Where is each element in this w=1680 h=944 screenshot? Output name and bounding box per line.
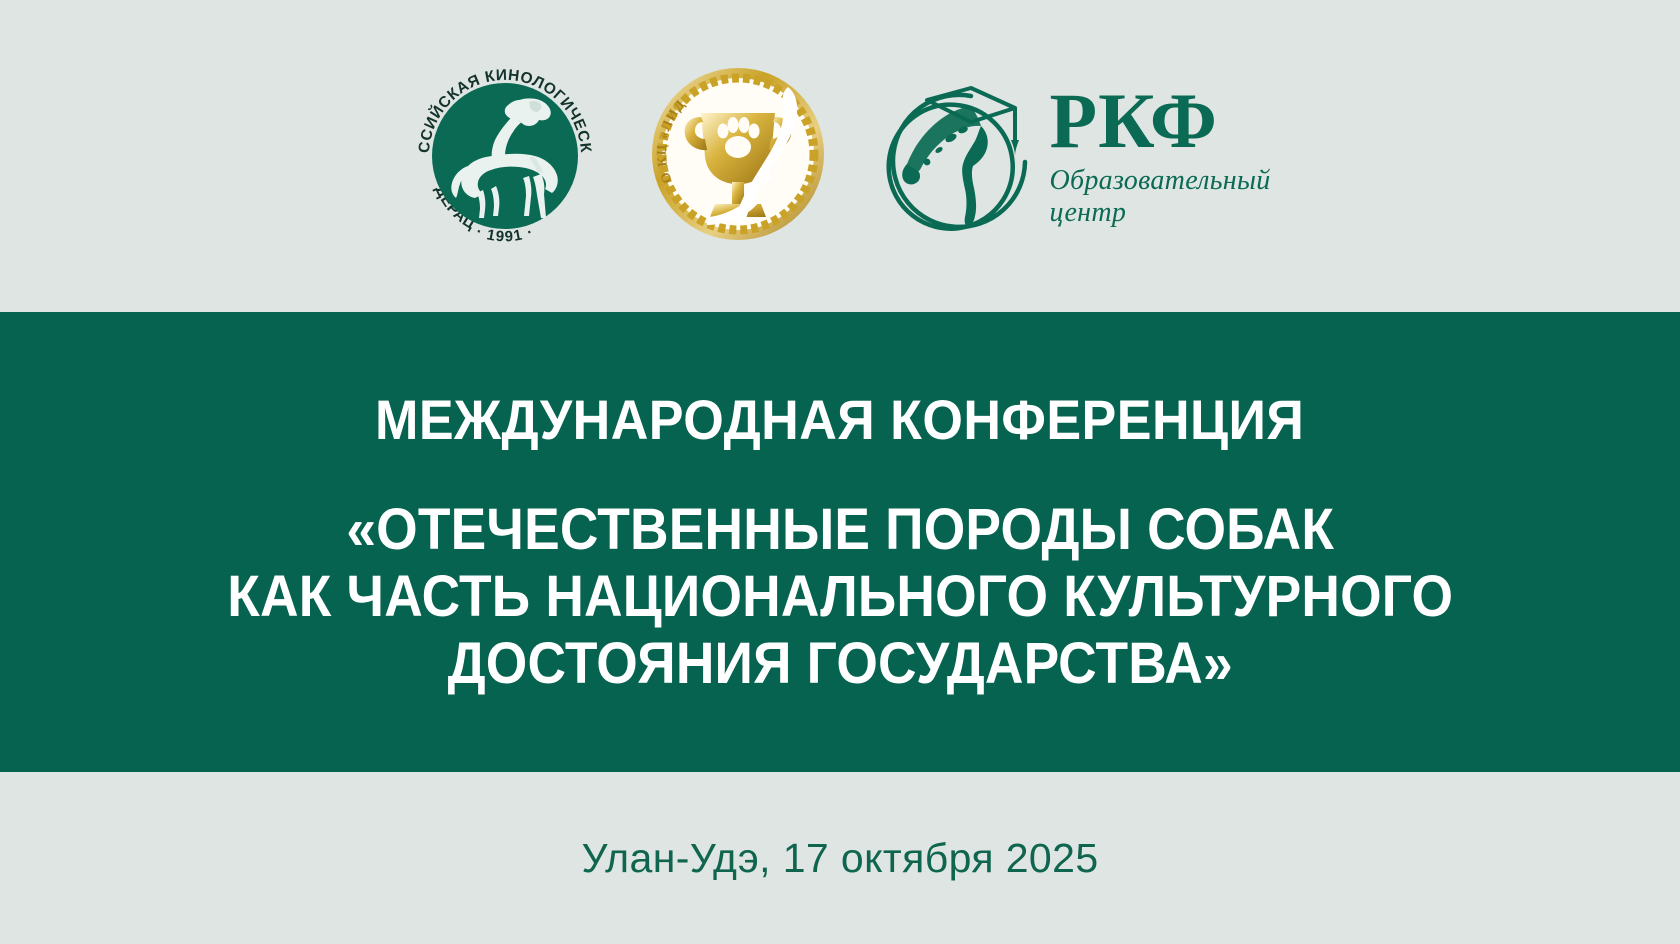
lider-medal-logo: БРОО КЦ «ЛИДЕР» xyxy=(649,65,827,248)
lider-medallion-icon: БРОО КЦ «ЛИДЕР» xyxy=(649,65,827,243)
conference-title-line-2: КАК ЧАСТЬ НАЦИОНАЛЬНОГО КУЛЬТУРНОГО xyxy=(227,563,1453,630)
conference-title-line-1: «ОТЕЧЕСТВЕННЫЕ ПОРОДЫ СОБАК xyxy=(227,496,1453,563)
rkf-education-subtitle-line2: центр xyxy=(1049,197,1270,228)
footer: Улан-Удэ, 17 октября 2025 xyxy=(0,772,1680,944)
rkf-seal: РОССИЙСКАЯ КИНОЛОГИЧЕСКАЯ ФЕДЕРАЦИЯ · 19… xyxy=(409,60,601,252)
conference-title: «ОТЕЧЕСТВЕННЫЕ ПОРОДЫ СОБАК КАК ЧАСТЬ НА… xyxy=(174,496,1506,698)
rkf-education-wordmark: РКФ Образовательный центр xyxy=(1049,84,1270,228)
borzoi-dog-icon xyxy=(449,94,567,222)
place-and-date: Улан-Удэ, 17 октября 2025 xyxy=(581,835,1098,882)
conference-title-band: МЕЖДУНАРОДНАЯ КОНФЕРЕНЦИЯ «ОТЕЧЕСТВЕННЫЕ… xyxy=(0,312,1680,772)
rkf-education-centre-logo: РКФ Образовательный центр xyxy=(875,76,1270,236)
rkf-education-subtitle: Образовательный центр xyxy=(1049,165,1270,228)
graduate-dog-head-icon xyxy=(875,76,1035,236)
rkf-seal-logo: РОССИЙСКАЯ КИНОЛОГИЧЕСКАЯ ФЕДЕРАЦИЯ · 19… xyxy=(409,60,601,252)
rkf-education-subtitle-line1: Образовательный xyxy=(1049,165,1270,196)
logo-strip: РОССИЙСКАЯ КИНОЛОГИЧЕСКАЯ ФЕДЕРАЦИЯ · 19… xyxy=(0,0,1680,312)
conference-heading: МЕЖДУНАРОДНАЯ КОНФЕРЕНЦИЯ xyxy=(375,387,1304,452)
conference-title-line-3: ДОСТОЯНИЯ ГОСУДАРСТВА» xyxy=(227,630,1453,697)
rkf-acronym: РКФ xyxy=(1049,84,1270,158)
